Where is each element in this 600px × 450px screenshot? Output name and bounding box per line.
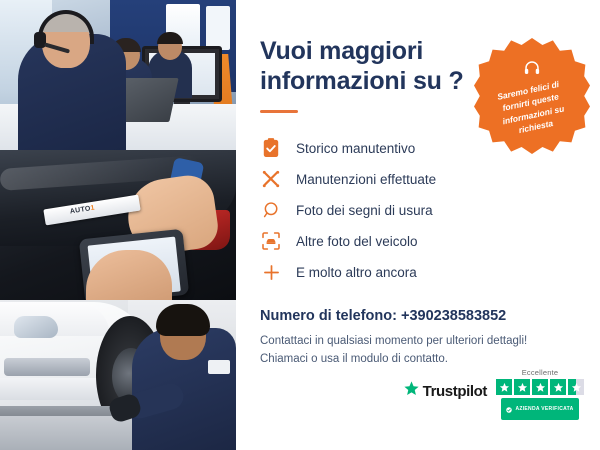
contact-line-1: Contattaci in qualsiasi momento per ulte… [260,333,578,351]
crossed-tools-icon [260,168,282,190]
badge-text: Saremo felici di fornirti queste informa… [470,72,594,144]
feature-item-maintenance-done: Manutenzioni effettuate [260,166,578,192]
trustpilot-wordmark: Trustpilot [423,383,487,400]
trustpilot-star-icon [403,380,420,402]
trustpilot-logo: Trustpilot [403,368,487,402]
rating-label: Eccellente [522,368,559,377]
star-partial-5 [568,379,584,395]
star-filled-3 [532,379,548,395]
mechanic-uniform-badge [208,360,230,374]
car-frame-icon [260,230,282,252]
contact-line-2: Chiamaci o usa il modulo di contatto. [260,351,578,369]
car-grille [4,358,90,376]
feature-label: Altre foto del veicolo [296,234,418,249]
phone-label: Numero di telefono: [260,308,397,324]
feature-label: Foto dei segni di usura [296,203,433,218]
contact-description: Contattaci in qualsiasi momento per ulte… [260,333,578,369]
star-filled-1 [496,379,512,395]
mechanic-hair [156,304,210,336]
title-underline [260,110,298,113]
feature-label: E molto altro ancora [296,265,417,280]
photo-collage: AUTO1 [0,0,236,450]
promo-banner: AUTO1 Vuoi maggiori informazioni su [0,0,600,450]
star-filled-4 [550,379,566,395]
verified-check-icon [506,400,512,418]
feature-label: Storico manutentivo [296,141,415,156]
verified-company-badge: AZIENDA VERIFICATA [501,398,578,420]
star-filled-2 [514,379,530,395]
sticker-brand-text: AUTO1 [69,205,95,216]
verified-label: AZIENDA VERIFICATA [515,406,573,412]
star-rating [496,379,584,395]
photo-call-center [0,0,236,150]
photo-damage-inspection: AUTO1 [0,150,236,300]
car-bumper [0,378,110,400]
magnifier-icon [260,199,282,221]
phone-number[interactable]: +390238583852 [401,308,506,324]
plus-icon [260,261,282,283]
car-headlight [14,316,58,338]
content-panel: Vuoi maggiori informazioni su ? Saremo f… [236,0,600,450]
feature-item-wear-photos: Foto dei segni di usura [260,197,578,223]
feature-list: Storico manutentivo Manutenzioni effettu… [260,135,578,285]
feature-label: Manutenzioni effettuate [296,172,436,187]
page-title: Vuoi maggiori informazioni su ? [260,36,490,96]
trustpilot-widget[interactable]: Trustpilot Eccellente [403,368,584,420]
feature-item-vehicle-photos: Altre foto del veicolo [260,228,578,254]
callout-badge: Saremo felici di fornirti queste informa… [474,38,590,154]
trustpilot-rating-group: Eccellente [496,368,584,420]
photo-wheel-inspection [0,300,236,450]
wall-poster-2 [206,6,230,50]
headset-icon [523,59,541,82]
feature-item-more: E molto altro ancora [260,259,578,285]
clipboard-check-icon [260,137,282,159]
phone-line: Numero di telefono: +390238583852 [260,308,578,324]
